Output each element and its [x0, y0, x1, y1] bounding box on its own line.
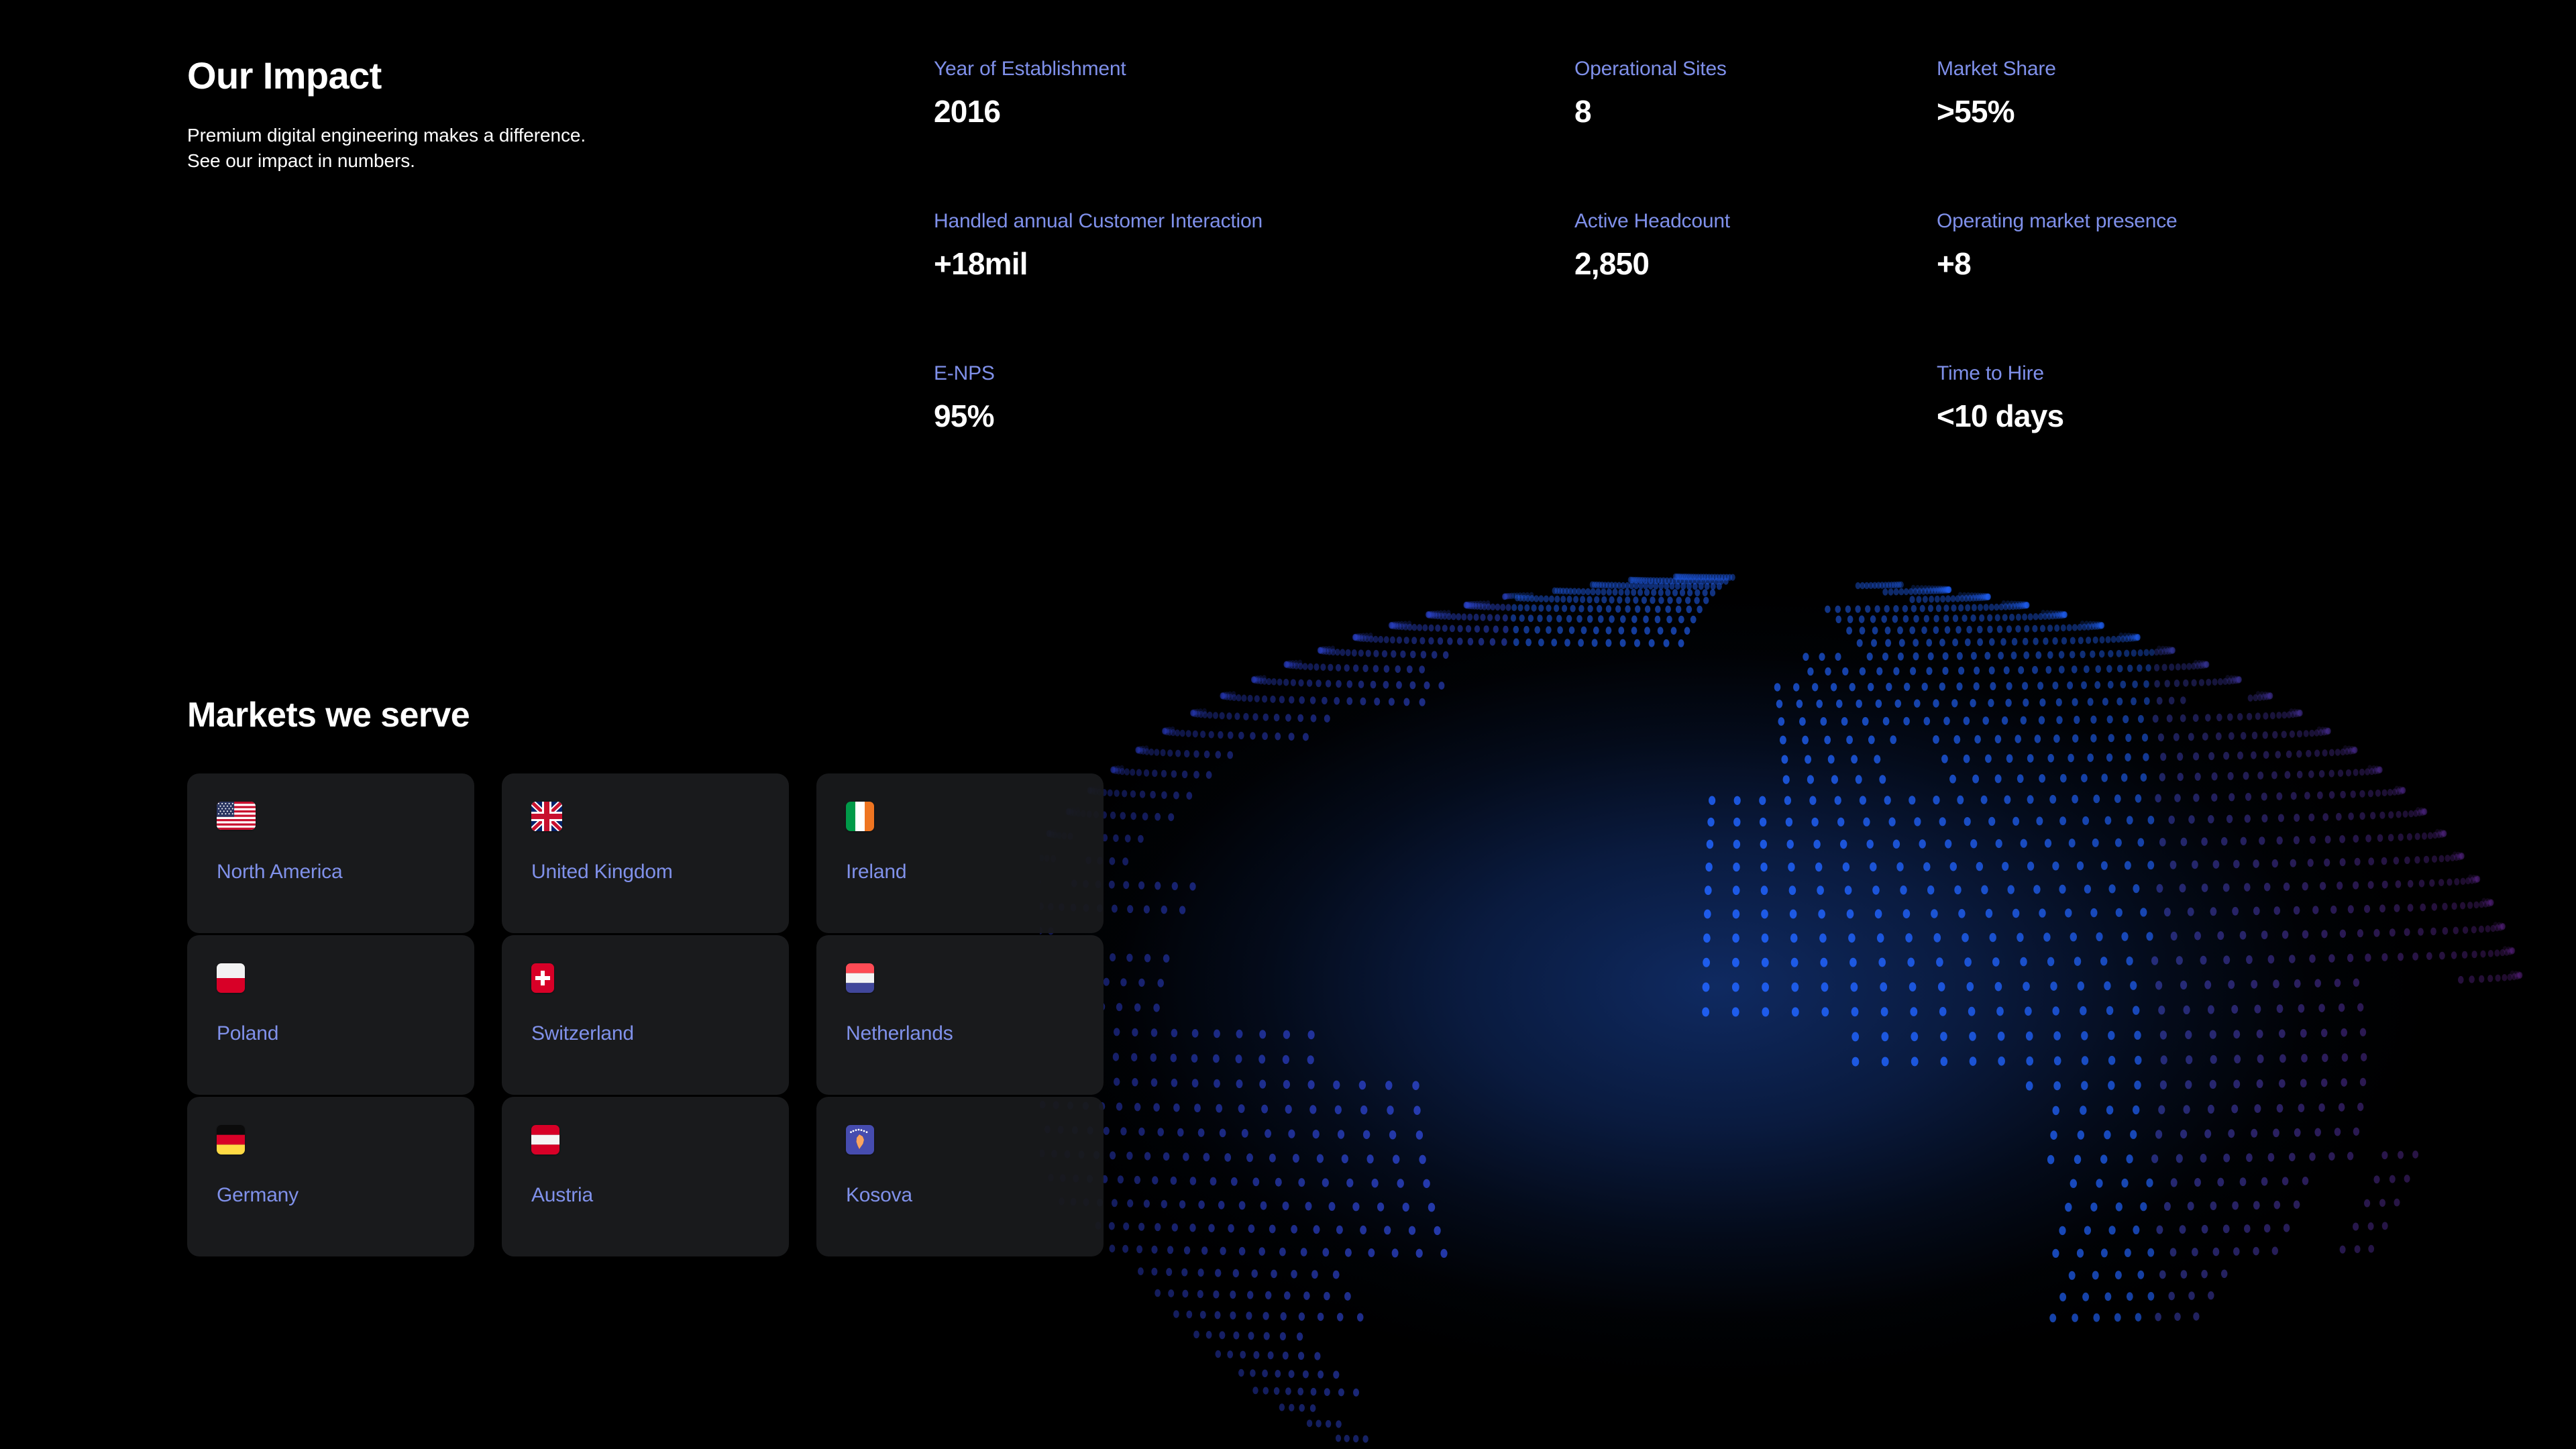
- market-card-kosova[interactable]: Kosova: [816, 1097, 1104, 1256]
- market-card-label: United Kingdom: [531, 861, 673, 883]
- ireland-flag-icon: [846, 802, 874, 831]
- us-flag-icon: [217, 802, 256, 830]
- stat-operational-sites: Operational Sites 8: [1574, 58, 1937, 210]
- austria-flag-icon: [531, 1125, 559, 1155]
- stat-label: Year of Establishment: [934, 58, 1574, 80]
- stat-value: 2,850: [1574, 247, 1937, 281]
- stat-year-of-establishment: Year of Establishment 2016: [934, 58, 1574, 210]
- market-card-label: Kosova: [846, 1184, 912, 1207]
- market-card-north-america[interactable]: North America: [187, 773, 474, 933]
- market-card-label: Poland: [217, 1022, 278, 1045]
- markets-grid: North America: [187, 773, 1104, 1256]
- market-card-label: Ireland: [846, 861, 906, 883]
- map-glow: [1040, 523, 2576, 1449]
- market-card-germany[interactable]: Germany: [187, 1097, 474, 1256]
- stat-label: E-NPS: [934, 362, 1574, 384]
- stat-value: +18mil: [934, 247, 1574, 281]
- dotted-world-map: [1040, 523, 2576, 1449]
- stat-label: Time to Hire: [1937, 362, 2447, 384]
- poland-flag-icon: [217, 963, 245, 993]
- market-card-poland[interactable]: Poland: [187, 935, 474, 1095]
- market-card-label: Germany: [217, 1184, 299, 1207]
- markets-section-title: Markets we serve: [187, 695, 470, 735]
- stat-value: +8: [1937, 247, 2447, 281]
- stat-value: <10 days: [1937, 399, 2447, 433]
- page-title: Our Impact: [187, 56, 831, 96]
- stat-time-to-hire: Time to Hire <10 days: [1937, 362, 2447, 515]
- market-card-label: Austria: [531, 1184, 593, 1207]
- stat-label: Handled annual Customer Interaction: [934, 210, 1574, 232]
- stat-operating-market-presence: Operating market presence +8: [1937, 210, 2447, 362]
- switzerland-flag-icon: [531, 963, 554, 993]
- stat-market-share: Market Share >55%: [1937, 58, 2447, 210]
- stat-label: Operating market presence: [1937, 210, 2447, 232]
- stat-value: 2016: [934, 95, 1574, 129]
- stat-value: 95%: [934, 399, 1574, 433]
- market-card-label: Switzerland: [531, 1022, 634, 1045]
- page-root: Our Impact Premium digital engineering m…: [0, 0, 2576, 1449]
- market-card-united-kingdom[interactable]: United Kingdom: [502, 773, 789, 933]
- market-card-label: Netherlands: [846, 1022, 953, 1045]
- impact-subtitle-line1: Premium digital engineering makes a diff…: [187, 125, 586, 146]
- impact-subtitle: Premium digital engineering makes a diff…: [187, 123, 831, 174]
- netherlands-flag-icon: [846, 963, 874, 993]
- stat-handled-annual-customer-interaction: Handled annual Customer Interaction +18m…: [934, 210, 1574, 362]
- market-card-ireland[interactable]: Ireland: [816, 773, 1104, 933]
- market-card-label: North America: [217, 861, 342, 883]
- stat-e-nps: E-NPS 95%: [934, 362, 1574, 515]
- market-card-netherlands[interactable]: Netherlands: [816, 935, 1104, 1095]
- stat-label: Market Share: [1937, 58, 2447, 80]
- impact-stats-grid: Year of Establishment 2016 Operational S…: [934, 58, 2477, 515]
- impact-header: Our Impact Premium digital engineering m…: [187, 56, 831, 174]
- market-card-austria[interactable]: Austria: [502, 1097, 789, 1256]
- market-card-switzerland[interactable]: Switzerland: [502, 935, 789, 1095]
- world-map-dots: [1040, 523, 2576, 1449]
- stat-value: 8: [1574, 95, 1937, 129]
- germany-flag-icon: [217, 1125, 245, 1155]
- stat-value: >55%: [1937, 95, 2447, 129]
- impact-subtitle-line2: See our impact in numbers.: [187, 150, 415, 171]
- stat-label: Operational Sites: [1574, 58, 1937, 80]
- uk-flag-icon: [531, 802, 562, 831]
- stat-label: Active Headcount: [1574, 210, 1937, 232]
- kosovo-flag-icon: [846, 1125, 874, 1155]
- stat-active-headcount: Active Headcount 2,850: [1574, 210, 1937, 362]
